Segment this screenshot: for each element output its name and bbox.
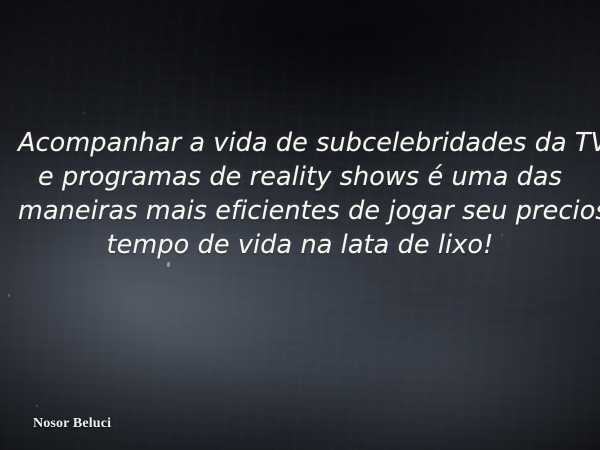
quote-line-2: e programas de reality shows é uma das xyxy=(18,160,582,194)
author-attribution: Nosor Beluci xyxy=(33,416,111,432)
quote-line-1: Acompanhar a vida de subcelebridades da … xyxy=(18,126,582,160)
quote-line-3: maneiras mais eficientes de jogar seu pr… xyxy=(18,194,582,228)
quote-text-block: Acompanhar a vida de subcelebridades da … xyxy=(0,126,600,262)
quote-line-4: tempo de vida na lata de lixo! xyxy=(18,228,582,262)
quote-card: Acompanhar a vida de subcelebridades da … xyxy=(0,0,600,450)
